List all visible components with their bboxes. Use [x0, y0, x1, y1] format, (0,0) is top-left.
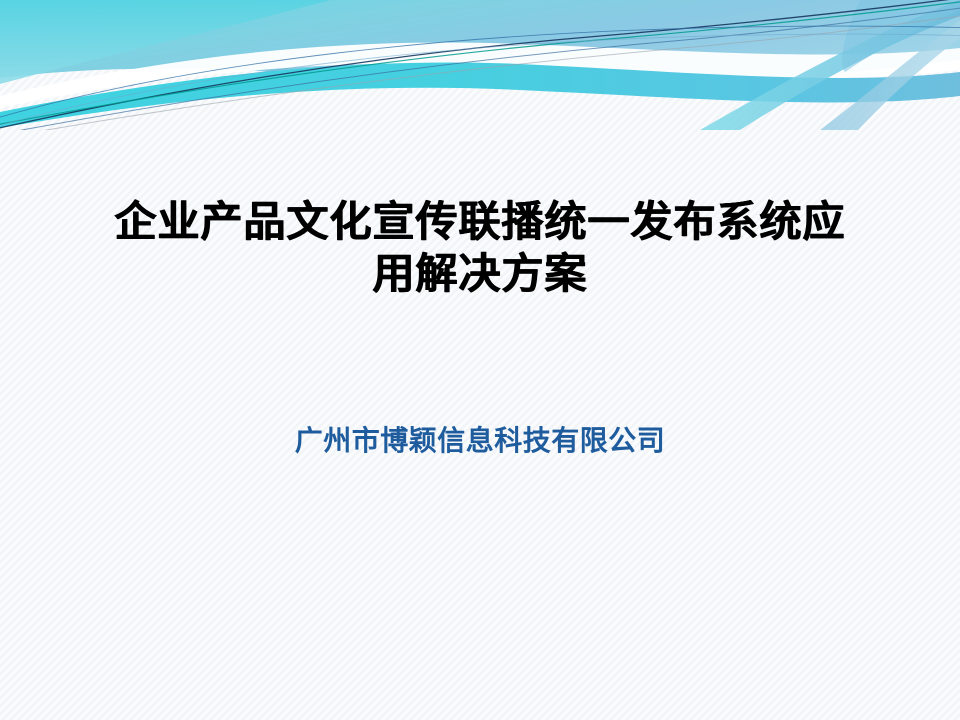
- company-name: 广州市博颖信息科技有限公司: [0, 423, 960, 459]
- title-line-2: 用解决方案: [0, 248, 960, 300]
- title-line-1: 企业产品文化宣传联播统一发布系统应: [0, 196, 960, 248]
- decorative-wave-banner: [0, 0, 960, 130]
- slide-subtitle: 广州市博颖信息科技有限公司: [0, 423, 960, 459]
- slide-title: 企业产品文化宣传联播统一发布系统应 用解决方案: [0, 196, 960, 300]
- wave-graphic: [0, 0, 960, 130]
- presentation-slide: 企业产品文化宣传联播统一发布系统应 用解决方案 广州市博颖信息科技有限公司: [0, 0, 960, 720]
